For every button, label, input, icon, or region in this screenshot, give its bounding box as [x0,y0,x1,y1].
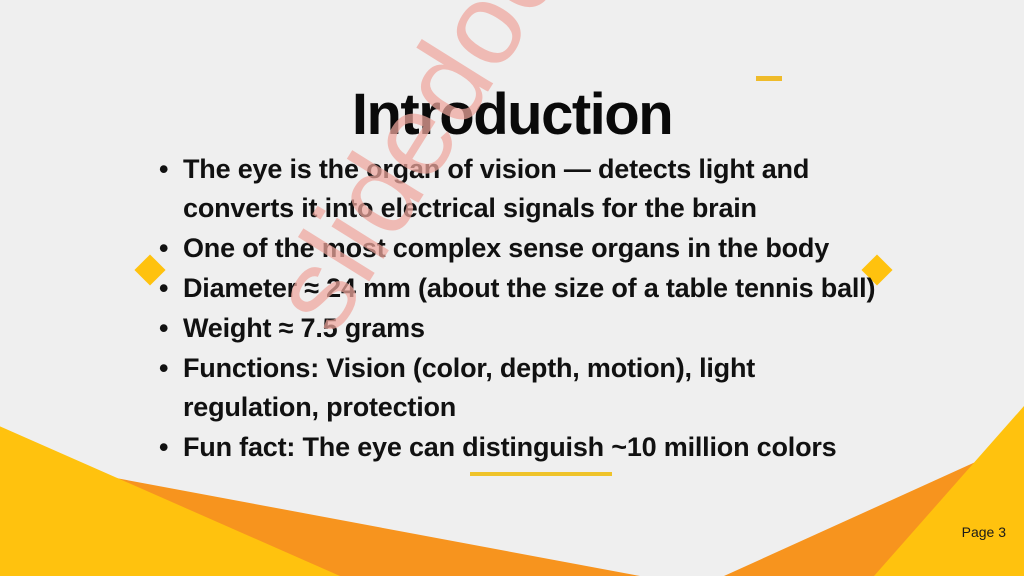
list-item: Diameter ≈ 24 mm (about the size of a ta… [155,269,895,308]
page-number: Page 3 [962,524,1006,540]
list-item: One of the most complex sense organs in … [155,229,895,268]
list-item: Weight ≈ 7.5 grams [155,309,895,348]
bullet-list: The eye is the organ of vision — detects… [155,150,895,468]
title-dash-accent [756,76,782,81]
highlight-dash-accent [470,472,612,476]
bottom-right-yellow-triangle [874,406,1024,576]
page-title: Introduction [0,85,1024,146]
list-item: Functions: Vision (color, depth, motion)… [155,349,895,427]
slide-canvas: Introduction The eye is the organ of vis… [0,0,1024,576]
list-item: The eye is the organ of vision — detects… [155,150,895,228]
list-item: Fun fact: The eye can distinguish ~10 mi… [155,428,895,467]
